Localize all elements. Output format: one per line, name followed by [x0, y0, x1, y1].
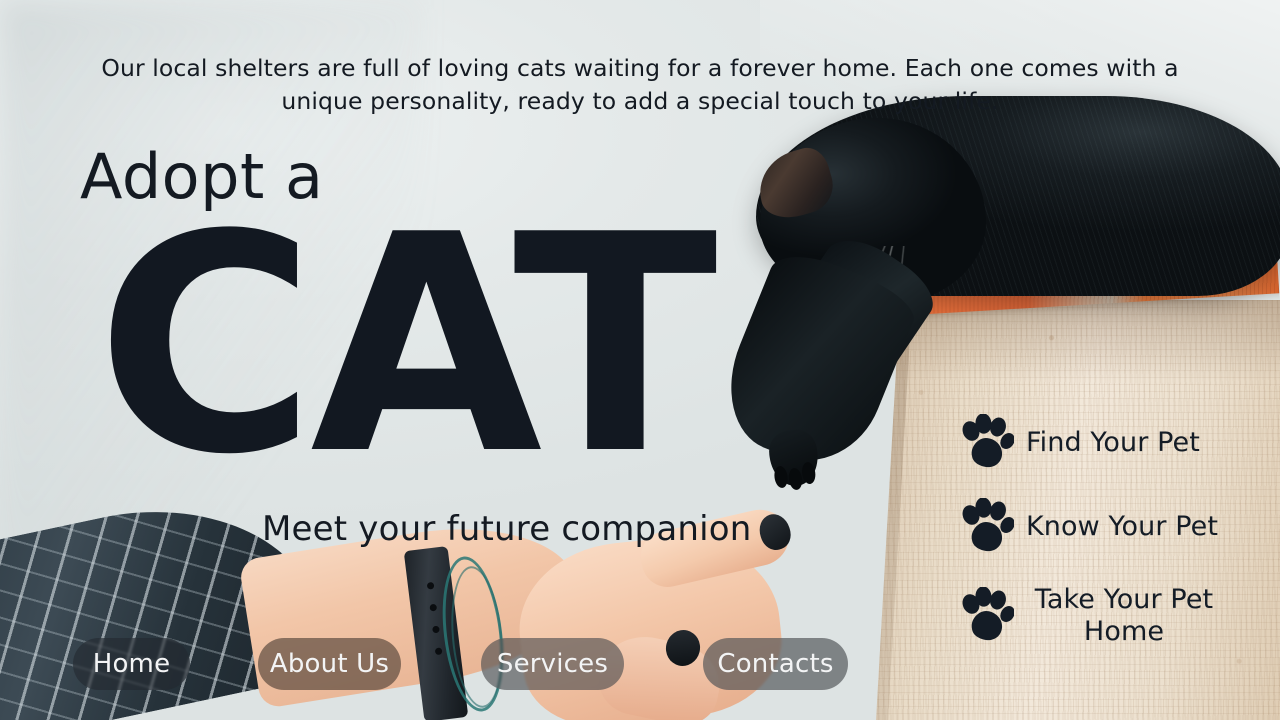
feature-label: Know Your Pet [1026, 511, 1218, 543]
paw-print-icon [958, 587, 1014, 645]
main-navigation: Home About Us Services Contacts [0, 638, 900, 692]
watch-strap-hole [429, 604, 437, 612]
paw-print-icon [958, 414, 1014, 472]
nav-label: About Us [270, 649, 389, 679]
page-headline: CAT [96, 196, 712, 496]
watch-strap-hole [427, 582, 435, 590]
poster-canvas: Adopt a CAT Our local shelters are full … [0, 0, 1280, 720]
feature-list: Find Your Pet Know Your Pet [958, 414, 1258, 674]
nav-item-contacts[interactable]: Contacts [703, 638, 848, 690]
feature-item-take-your-pet-home[interactable]: Take Your Pet Home [958, 584, 1258, 648]
tagline-text: Meet your future companion [262, 508, 752, 550]
nav-item-services[interactable]: Services [481, 638, 624, 690]
intro-paragraph: Our local shelters are full of loving ca… [90, 52, 1190, 118]
feature-item-find-your-pet[interactable]: Find Your Pet [958, 414, 1258, 472]
watch-strap-hole [432, 626, 440, 634]
nav-item-home[interactable]: Home [73, 638, 190, 690]
nav-label: Home [93, 649, 171, 679]
nav-label: Contacts [717, 649, 833, 679]
feature-label: Find Your Pet [1026, 427, 1200, 459]
feature-label: Take Your Pet Home [1026, 584, 1222, 648]
paw-print-icon [958, 498, 1014, 556]
feature-item-know-your-pet[interactable]: Know Your Pet [958, 498, 1258, 556]
nav-item-about-us[interactable]: About Us [258, 638, 401, 690]
nav-label: Services [497, 649, 608, 679]
